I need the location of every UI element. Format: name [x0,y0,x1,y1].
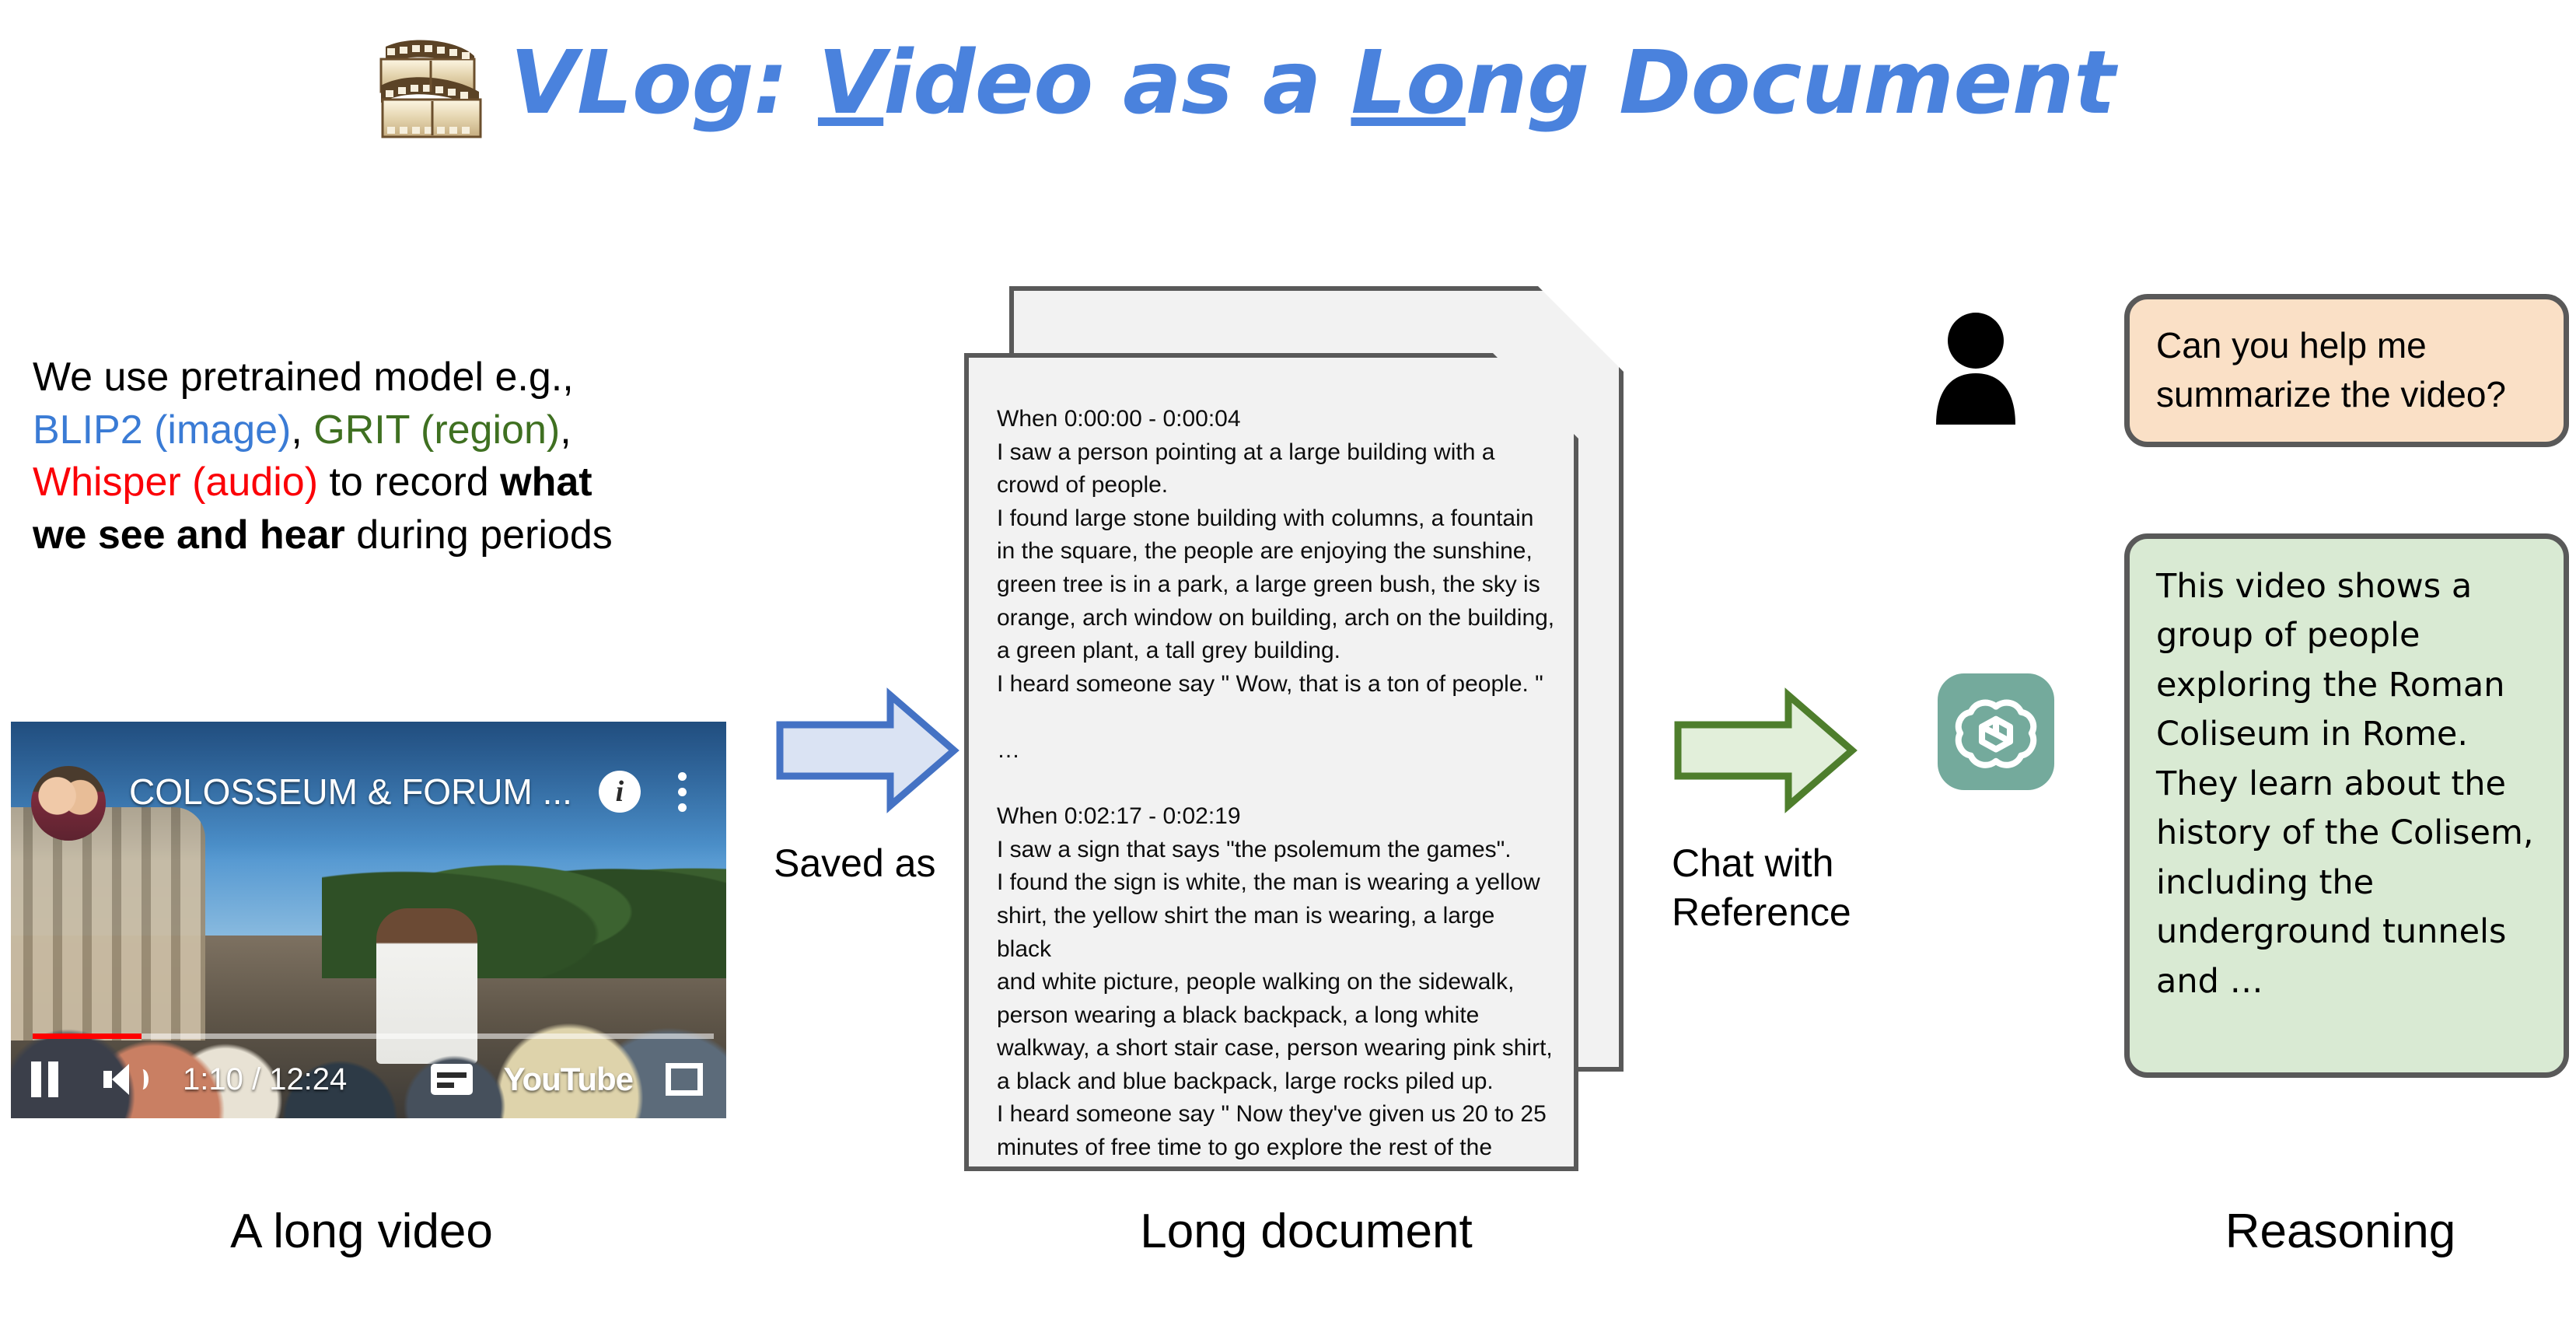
video-top-bar: COLOSSEUM & FORUM ... i [11,722,726,862]
video-time-label: 1:10 / 12:24 [183,1062,347,1097]
video-progress-fill [33,1033,142,1039]
caption-a-long-video: A long video [0,1204,723,1259]
video-player[interactable]: COLOSSEUM & FORUM ... i 1:10 / 12:24 You… [11,722,726,1118]
lead-line1: We use pretrained model e.g., [33,355,574,400]
user-message-bubble[interactable]: Can you help me summarize the video? [2124,294,2569,447]
person-icon [1930,308,2039,425]
green-right-arrow-icon [1672,684,1858,817]
title-ideo: ideo as a [883,33,1351,134]
model-grit: GRIT (region) [313,407,560,453]
document-page-front[interactable]: When 0:00:00 - 0:00:04 I saw a person po… [964,353,1578,1171]
chat-with-reference-arrow-block: Chat with Reference [1672,684,1858,936]
lead-tail: during periods [345,512,613,558]
document-body-text: When 0:00:00 - 0:00:04 I saw a person po… [997,403,1555,1171]
film-strip-icon [365,25,490,149]
video-progress-bar[interactable] [33,1033,714,1039]
assistant-message-text: This video shows a group of people explo… [2156,567,2534,1001]
video-title: COLOSSEUM & FORUM ... [129,771,572,813]
title-lo: Lo [1351,33,1465,134]
fullscreen-icon[interactable] [666,1063,703,1096]
chatgpt-knot-icon [1954,690,2038,774]
model-blip2: BLIP2 (image) [33,407,291,453]
avatar [31,766,106,841]
video-controls: 1:10 / 12:24 YouTube [11,1047,726,1112]
page-title: VLog: Video as a Long Document [510,38,2115,130]
lead-bold2: we see and hear [33,512,345,558]
youtube-logo: YouTube [504,1061,633,1098]
long-document-stack: When 0:00:00 - 0:00:04 I saw a person po… [964,286,1648,1173]
more-options-icon[interactable] [678,772,687,812]
saved-as-label: Saved as [774,839,960,888]
lead-mid: to record [318,460,500,505]
blue-right-arrow-icon [774,684,960,817]
page-header: VLog: Video as a Long Document [365,22,2115,146]
chat-with-reference-label: Chat with Reference [1672,839,1858,936]
volume-icon[interactable] [103,1064,149,1095]
caption-reasoning: Reasoning [2099,1204,2576,1259]
lead-bold1: what [500,460,592,505]
method-description: We use pretrained model e.g., BLIP2 (ima… [33,351,717,561]
model-whisper: Whisper (audio) [33,460,318,505]
pause-icon[interactable] [31,1061,58,1097]
info-icon[interactable]: i [599,771,641,813]
assistant-message-bubble[interactable]: This video shows a group of people explo… [2124,533,2569,1078]
closed-captions-icon[interactable] [431,1064,473,1095]
user-message-text: Can you help me summarize the video? [2156,325,2506,414]
title-doc: Document [1589,33,2115,134]
title-prefix: VLog: [510,33,818,134]
title-v: V [818,33,883,134]
title-ng: ng [1466,33,1589,134]
caption-long-document: Long document [956,1204,1656,1259]
chatgpt-logo [1938,673,2054,790]
saved-as-arrow-block: Saved as [774,684,960,888]
